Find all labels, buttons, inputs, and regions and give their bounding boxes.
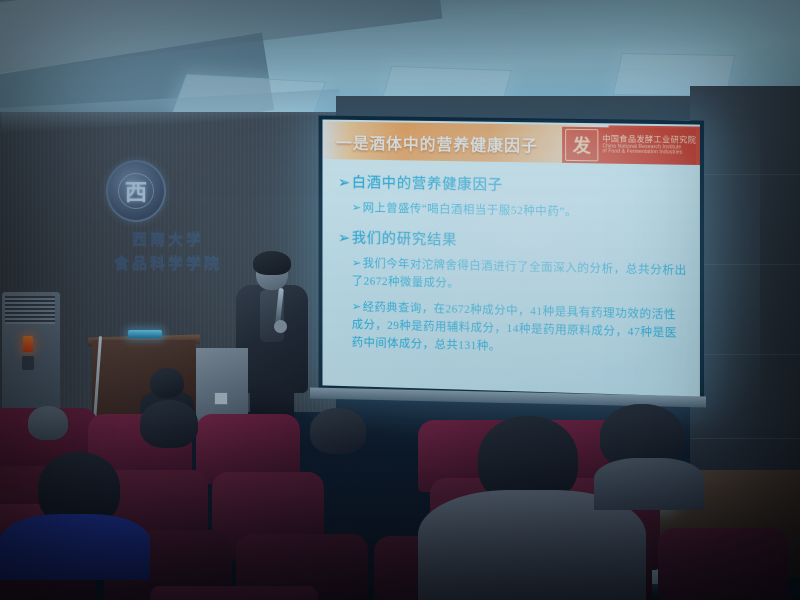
lecture-hall-photo: 西 西南大学 食品科学学院 一是酒体中的营养健康因子 发 中国食品发酵工业研究院… bbox=[0, 0, 800, 600]
laptop-screen[interactable] bbox=[128, 330, 162, 338]
ac-vent-grille bbox=[5, 296, 55, 324]
person-shoulders bbox=[594, 458, 704, 510]
projection-screen-frame: 一是酒体中的营养健康因子 发 中国食品发酵工业研究院 China Nationa… bbox=[319, 115, 704, 401]
person-head bbox=[28, 406, 68, 440]
ac-control-panel[interactable] bbox=[22, 356, 34, 370]
institute-logo: 发 中国食品发酵工业研究院 China National Research In… bbox=[562, 127, 696, 165]
slide-bullet-1: ➢白酒中的营养健康因子 bbox=[338, 171, 688, 198]
wall-university-name: 西南大学 bbox=[0, 228, 336, 249]
university-emblem-icon: 西 bbox=[106, 160, 166, 222]
bullet-marker-icon: ➢ bbox=[338, 230, 351, 246]
person-head bbox=[310, 408, 366, 454]
slide-title: 一是酒体中的营养健康因子 bbox=[336, 130, 538, 157]
speaker-hand bbox=[274, 320, 287, 333]
panel-seam-1 bbox=[690, 174, 800, 175]
audience-person bbox=[28, 452, 138, 572]
slide-bullet-1-text: 白酒中的营养健康因子 bbox=[352, 175, 503, 194]
slide-bullet-4-text: 我们今年对沱牌舍得白酒进行了全面深入的分析，总共分析出了2672种微量成分。 bbox=[352, 258, 687, 290]
ac-display-indicator bbox=[23, 336, 33, 352]
institute-logo-mark: 发 bbox=[565, 129, 598, 162]
audience-person bbox=[600, 404, 690, 500]
speaker-hair bbox=[253, 251, 291, 275]
bullet-marker-icon: ➢ bbox=[352, 257, 362, 269]
person-blue-jacket bbox=[0, 514, 150, 580]
podium-person-head bbox=[150, 368, 184, 398]
slide-body: ➢白酒中的营养健康因子 ➢网上曾盛传“喝白酒相当于服52种中药”。 ➢我们的研究… bbox=[338, 171, 688, 371]
institute-name-en-2: of Food & Fermentation Industries bbox=[602, 150, 696, 157]
seat-cushion bbox=[150, 586, 318, 600]
person-head bbox=[140, 400, 198, 448]
seat[interactable] bbox=[658, 528, 788, 600]
slide-bullet-5-text: 经药典查询，在2672种成分中，41种是具有药理功效的活性成分，29种是药用辅料… bbox=[352, 302, 677, 353]
slide-bullet-3-text: 我们的研究结果 bbox=[352, 231, 458, 249]
audience-person bbox=[24, 406, 70, 446]
slide-bullet-5: ➢经药典查询，在2672种成分中，41种是具有药理功效的活性成分，29种是药用辅… bbox=[352, 300, 688, 362]
projection-screen: 一是酒体中的营养健康因子 发 中国食品发酵工业研究院 China Nationa… bbox=[322, 119, 699, 396]
slide-title-bar: 一是酒体中的营养健康因子 发 中国食品发酵工业研究院 China Nationa… bbox=[322, 121, 699, 165]
audience-person bbox=[140, 400, 204, 456]
slide-bullet-3: ➢我们的研究结果 bbox=[338, 226, 688, 254]
audience-person bbox=[452, 416, 612, 596]
bullet-marker-icon: ➢ bbox=[352, 302, 362, 314]
emblem-mark: 西 bbox=[125, 175, 147, 207]
audience-person bbox=[310, 408, 370, 462]
slide-bullet-4: ➢我们今年对沱牌舍得白酒进行了全面深入的分析，总共分析出了2672种微量成分。 bbox=[352, 255, 688, 298]
bullet-marker-icon: ➢ bbox=[338, 175, 351, 191]
bullet-marker-icon: ➢ bbox=[352, 202, 362, 214]
slide-bullet-2-text: 网上曾盛传“喝白酒相当于服52种中药”。 bbox=[363, 202, 577, 218]
panel-seam-3 bbox=[690, 354, 800, 355]
slide-bullet-2: ➢网上曾盛传“喝白酒相当于服52种中药”。 bbox=[352, 200, 688, 224]
panel-seam-2 bbox=[690, 264, 800, 265]
audience-seating bbox=[0, 400, 800, 600]
